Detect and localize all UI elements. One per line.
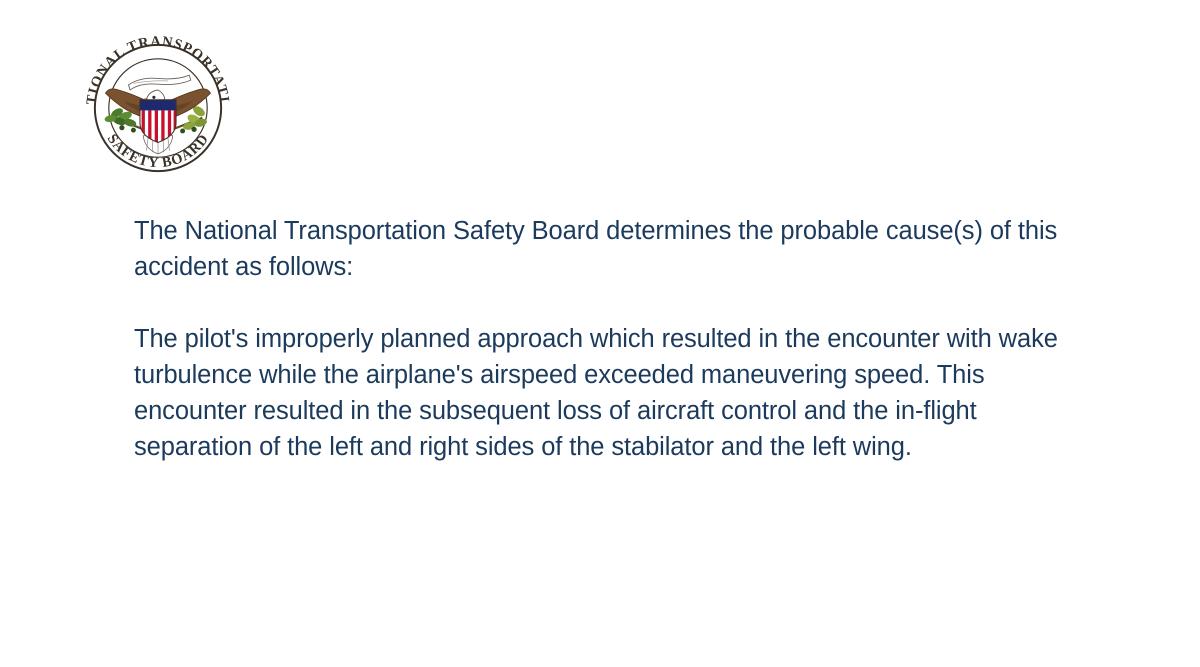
probable-cause-intro-paragraph: The National Transportation Safety Board…	[134, 213, 1096, 285]
ntsb-seal-icon: NATIONAL TRANSPORTATION SAFETY BOARD	[76, 26, 240, 190]
document-page: NATIONAL TRANSPORTATION SAFETY BOARD	[0, 0, 1200, 667]
probable-cause-text-block: The National Transportation Safety Board…	[134, 213, 1096, 465]
seal-banner-icon	[128, 75, 190, 90]
ntsb-seal-logo: NATIONAL TRANSPORTATION SAFETY BOARD	[76, 26, 240, 190]
probable-cause-finding-paragraph: The pilot's improperly planned approach …	[134, 321, 1096, 465]
